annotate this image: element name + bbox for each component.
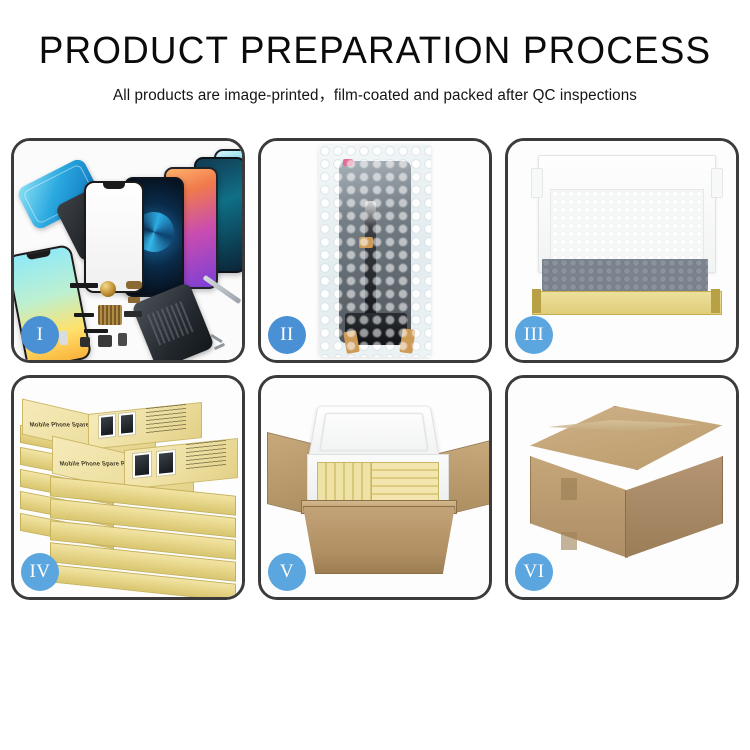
page-header: PRODUCT PREPARATION PROCESS All products… — [0, 0, 750, 105]
connector-icon — [126, 281, 142, 289]
carton-tab-icon — [561, 532, 577, 550]
flex-cable-icon — [365, 201, 376, 319]
pink-label-icon — [343, 159, 353, 166]
step-number-badge-2: II — [268, 316, 306, 354]
foam-lid-icon — [308, 406, 441, 461]
page-subtitle: All products are image-printed，film-coat… — [8, 83, 743, 105]
step-number-badge-6: VI — [515, 553, 553, 591]
process-step-card-3[interactable]: III — [505, 138, 739, 363]
step-number-badge-5: V — [268, 553, 306, 591]
box-product-photo — [132, 451, 152, 479]
process-step-card-2[interactable]: II — [258, 138, 492, 363]
copper-coil-icon — [100, 281, 116, 297]
page-title: PRODUCT PREPARATION PROCESS — [11, 32, 739, 72]
front-glass-icon — [84, 181, 144, 293]
small-part-icon — [124, 311, 142, 317]
connector-icon — [128, 297, 140, 303]
tray-tab-icon — [532, 289, 541, 313]
process-step-card-6[interactable]: VI — [505, 375, 739, 600]
small-part-icon — [80, 337, 90, 347]
kraft-tray-front-icon — [532, 291, 722, 315]
flex-strip-icon — [84, 329, 108, 333]
flex-strip-icon — [70, 283, 98, 288]
process-step-card-4[interactable]: Mobile Phone Spare Parts Mobile Phone Sp… — [11, 375, 245, 600]
step-number-badge-3: III — [515, 316, 553, 354]
carton-tab-icon — [561, 478, 577, 500]
step-number-badge-1: I — [21, 316, 59, 354]
process-steps-grid: I II III — [11, 138, 739, 600]
step-number-badge-4: IV — [21, 553, 59, 591]
box-product-photo — [156, 449, 176, 477]
carton-side-face-icon — [625, 456, 723, 558]
tape-piece-icon — [359, 237, 373, 248]
small-part-icon — [118, 333, 127, 346]
process-step-card-1[interactable]: I — [11, 138, 245, 363]
carton-front-face-icon — [530, 456, 628, 558]
box-product-photo — [118, 411, 136, 437]
box-product-photo — [98, 413, 116, 439]
tray-tab-icon — [711, 289, 720, 313]
process-step-card-5[interactable]: V — [258, 375, 492, 600]
small-part-icon — [60, 331, 68, 345]
small-part-icon — [98, 335, 112, 347]
flex-strip-icon — [74, 313, 94, 317]
bubble-wrap-bag-icon — [319, 145, 431, 357]
box-spec-lines — [146, 404, 186, 434]
box-spec-lines — [186, 440, 226, 470]
ic-chip-icon — [98, 305, 122, 325]
carton-body-icon — [303, 506, 455, 574]
tape-piece-icon — [399, 328, 415, 354]
carton-top-icon — [530, 406, 722, 470]
foam-sheet-icon — [550, 189, 704, 263]
gold-boxes-inside-icon — [371, 462, 439, 504]
bubble-padding-icon — [542, 259, 708, 291]
